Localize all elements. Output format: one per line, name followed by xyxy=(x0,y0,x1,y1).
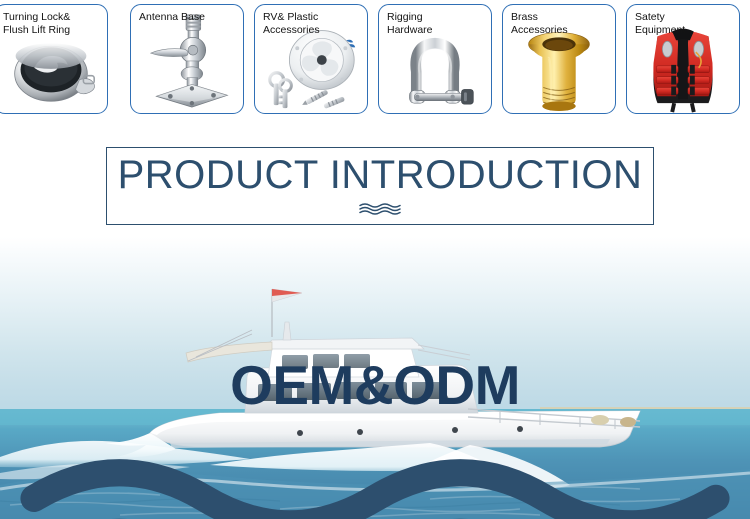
category-card-strip: Turning Lock& Flush Lift Ring xyxy=(0,0,750,120)
category-card-antenna-base[interactable]: Antenna Base xyxy=(130,4,244,114)
product-introduction-banner: PRODUCT INTRODUCTION xyxy=(106,147,654,225)
wave-icon xyxy=(358,202,402,216)
hero-banner: OEM&ODM 20 years marine hardware manufac… xyxy=(0,237,750,519)
category-card-safety-equipment[interactable]: Satety Equipment xyxy=(626,4,740,114)
category-card-rv-plastic-accessories[interactable]: RV& Plastic Accessories xyxy=(254,4,368,114)
hero-title: OEM&ODM xyxy=(0,355,750,415)
category-label: Brass Accessories xyxy=(511,11,568,36)
promo-banner-page: Turning Lock& Flush Lift Ring xyxy=(0,0,750,519)
category-label: Turning Lock& Flush Lift Ring xyxy=(3,11,70,36)
category-label: Antenna Base xyxy=(139,11,205,24)
wave-icon xyxy=(0,417,750,519)
category-card-brass-accessories[interactable]: Brass Accessories xyxy=(502,4,616,114)
category-label: Rigging Hardware xyxy=(387,11,433,36)
category-card-flush-lift-ring[interactable]: Turning Lock& Flush Lift Ring xyxy=(0,4,108,114)
category-card-rigging-hardware[interactable]: Rigging Hardware xyxy=(378,4,492,114)
page-title: PRODUCT INTRODUCTION xyxy=(107,152,653,198)
category-label: RV& Plastic Accessories xyxy=(263,11,320,36)
hero-copy: OEM&ODM 20 years marine hardware manufac… xyxy=(0,355,750,519)
category-label: Satety Equipment xyxy=(635,11,685,36)
